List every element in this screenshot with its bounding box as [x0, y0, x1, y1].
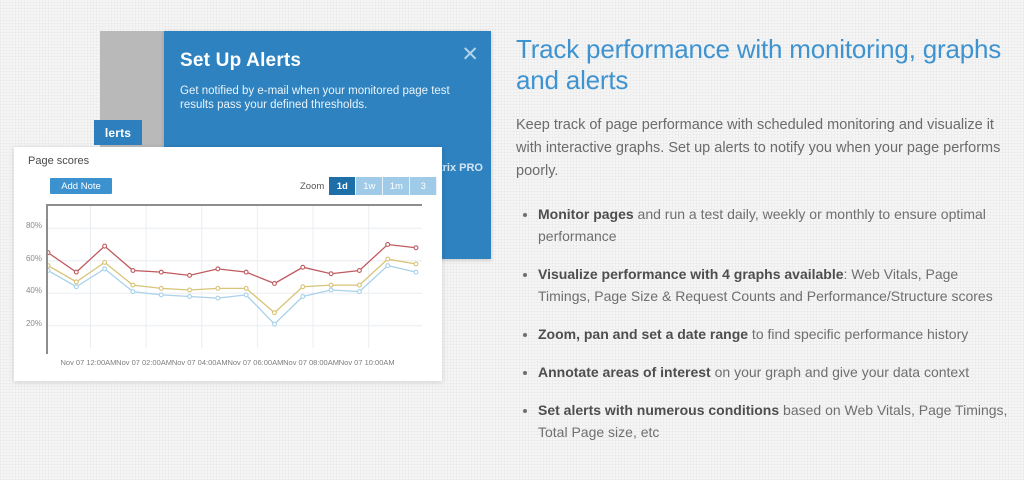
feature-bullet-lead: Zoom, pan and set a date range: [538, 326, 748, 342]
chart-series-line: [48, 266, 416, 325]
feature-bullet-lead: Monitor pages: [538, 206, 634, 222]
chart-data-point[interactable]: [301, 295, 305, 299]
chart-data-point[interactable]: [188, 273, 192, 277]
chart-data-point[interactable]: [301, 285, 305, 289]
add-note-button[interactable]: Add Note: [50, 178, 112, 194]
zoom-range-label: 1w: [363, 181, 375, 192]
chart-data-point[interactable]: [357, 269, 361, 273]
add-note-label: Add Note: [61, 181, 101, 192]
line-chart-svg: [48, 206, 422, 354]
feature-bullet-lead: Annotate areas of interest: [538, 364, 711, 380]
chart-data-point[interactable]: [48, 251, 50, 255]
zoom-range-1m[interactable]: 1m: [383, 177, 410, 195]
chart-xtick-label: Nov 07 04:00AM: [172, 358, 228, 367]
chart-data-point[interactable]: [329, 272, 333, 276]
feature-bullet-text: to find specific performance history: [748, 326, 968, 342]
zoom-range-1w[interactable]: 1w: [356, 177, 383, 195]
feature-bullet-item: Annotate areas of interest on your graph…: [538, 361, 1008, 383]
chart-xtick-label: Nov 07 12:00AM: [61, 358, 117, 367]
chart-data-point[interactable]: [74, 285, 78, 289]
close-icon[interactable]: ✕: [461, 44, 479, 65]
chart-data-point[interactable]: [216, 267, 220, 271]
chart-data-point[interactable]: [244, 286, 248, 290]
chart-data-point[interactable]: [159, 270, 163, 274]
zoom-range-1d[interactable]: 1d: [329, 177, 356, 195]
chart-data-point[interactable]: [414, 262, 418, 266]
chart-data-point[interactable]: [159, 286, 163, 290]
chart-data-point[interactable]: [48, 264, 50, 268]
chart-data-point[interactable]: [273, 322, 277, 326]
chart-ytick-label: 20%: [18, 319, 42, 328]
feature-bullet-lead: Set alerts with numerous conditions: [538, 402, 779, 418]
chart-data-point[interactable]: [357, 283, 361, 287]
chart-card-title: Page scores: [28, 155, 89, 167]
feature-intro-paragraph: Keep track of page performance with sche…: [516, 114, 1008, 183]
chart-data-point[interactable]: [386, 257, 390, 261]
chart-data-point[interactable]: [131, 290, 135, 294]
chart-data-point[interactable]: [329, 288, 333, 292]
chart-data-point[interactable]: [216, 296, 220, 300]
dialog-title: Set Up Alerts: [180, 50, 301, 72]
chart-data-point[interactable]: [159, 293, 163, 297]
chart-data-point[interactable]: [273, 311, 277, 315]
chart-data-point[interactable]: [329, 283, 333, 287]
zoom-control-label: Zoom: [300, 181, 324, 192]
chart-data-point[interactable]: [103, 244, 107, 248]
chart-data-point[interactable]: [386, 264, 390, 268]
chart-xtick-label: Nov 07 02:00AM: [116, 358, 172, 367]
chart-data-point[interactable]: [188, 295, 192, 299]
chart-data-point[interactable]: [74, 280, 78, 284]
zoom-range-buttons: 1d1w1m3: [329, 177, 437, 195]
feature-bullet-list: Monitor pages and run a test daily, week…: [516, 203, 1008, 443]
zoom-range-label: 1d: [337, 181, 348, 192]
page-scores-plot[interactable]: [46, 204, 422, 354]
chart-data-point[interactable]: [188, 288, 192, 292]
feature-copy-column: Track performance with monitoring, graph…: [516, 34, 1008, 459]
chart-data-point[interactable]: [357, 290, 361, 294]
zoom-range-control: Zoom 1d1w1m3: [300, 177, 500, 195]
chart-data-point[interactable]: [74, 270, 78, 274]
chart-ytick-label: 40%: [18, 286, 42, 295]
feature-bullet-item: Monitor pages and run a test daily, week…: [538, 203, 1008, 247]
alerts-tab-chip-label: lerts: [105, 126, 131, 140]
chart-ytick-label: 60%: [18, 254, 42, 263]
chart-data-point[interactable]: [131, 269, 135, 273]
feature-bullet-lead: Visualize performance with 4 graphs avai…: [538, 266, 844, 282]
chart-data-point[interactable]: [244, 293, 248, 297]
zoom-range-label: 3: [421, 181, 426, 192]
feature-bullet-item: Visualize performance with 4 graphs avai…: [538, 263, 1008, 307]
chart-data-point[interactable]: [273, 282, 277, 286]
alerts-tab-chip[interactable]: lerts: [94, 120, 142, 145]
feature-bullet-item: Set alerts with numerous conditions base…: [538, 399, 1008, 443]
zoom-range-3[interactable]: 3: [410, 177, 437, 195]
chart-data-point[interactable]: [414, 246, 418, 250]
chart-data-point[interactable]: [301, 265, 305, 269]
dialog-description: Get notified by e-mail when your monitor…: [180, 84, 456, 112]
chart-xtick-label: Nov 07 08:00AM: [283, 358, 339, 367]
zoom-range-label: 1m: [390, 181, 403, 192]
feature-bullet-item: Zoom, pan and set a date range to find s…: [538, 323, 1008, 345]
chart-data-point[interactable]: [131, 283, 135, 287]
chart-data-point[interactable]: [386, 243, 390, 247]
feature-bullet-text: on your graph and give your data context: [711, 364, 969, 380]
chart-data-point[interactable]: [414, 270, 418, 274]
chart-xtick-label: Nov 07 10:00AM: [339, 358, 395, 367]
chart-data-point[interactable]: [244, 270, 248, 274]
chart-data-point[interactable]: [103, 260, 107, 264]
chart-ytick-label: 80%: [18, 221, 42, 230]
chart-data-point[interactable]: [216, 286, 220, 290]
chart-data-point[interactable]: [48, 269, 50, 273]
product-screenshot-composite: lerts Set Up Alerts ✕ Get notified by e-…: [0, 0, 500, 480]
chart-data-point[interactable]: [103, 267, 107, 271]
chart-xtick-label: Nov 07 06:00AM: [227, 358, 283, 367]
page-title: Track performance with monitoring, graph…: [516, 34, 1008, 96]
